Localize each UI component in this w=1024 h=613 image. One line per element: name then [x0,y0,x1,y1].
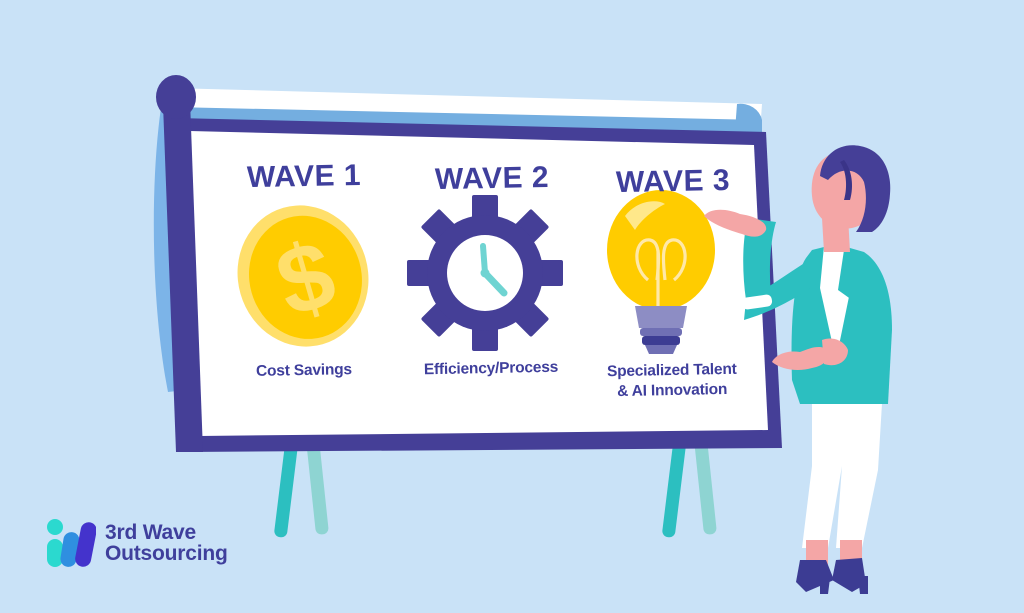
bulb-thread-1 [640,328,682,336]
wave-1-title: WAVE 1 [196,158,413,196]
logo-bar-teal [47,539,63,567]
brand-logo-text: 3rd Wave Outsourcing [105,522,228,565]
wave-3-caption: Specialized Talent & AI Innovation [564,359,781,403]
bulb-collar [635,306,687,328]
clock-center-pin [481,269,490,278]
bulb-glass [607,190,715,310]
wave-3-title: WAVE 3 [565,163,782,201]
wave-1-caption: Cost Savings [196,359,412,383]
illustration-scene: $ [0,0,1024,613]
wave-3-caption-line-2: & AI Innovation [617,381,727,400]
brand-logo-line-2: Outsourcing [105,543,228,565]
brand-logo-line-1: 3rd Wave [105,522,228,544]
logo-dot-teal [47,519,63,535]
board-clip-knob [156,75,196,119]
wave-3-caption-line-1: Specialized Talent [607,361,737,380]
brand-logo[interactable]: 3rd Wave Outsourcing [44,512,264,574]
gear-clock-icon [407,195,563,351]
bulb-base-tip [645,345,677,354]
bulb-thread-2 [642,336,680,345]
brand-logo-mark [44,518,96,568]
